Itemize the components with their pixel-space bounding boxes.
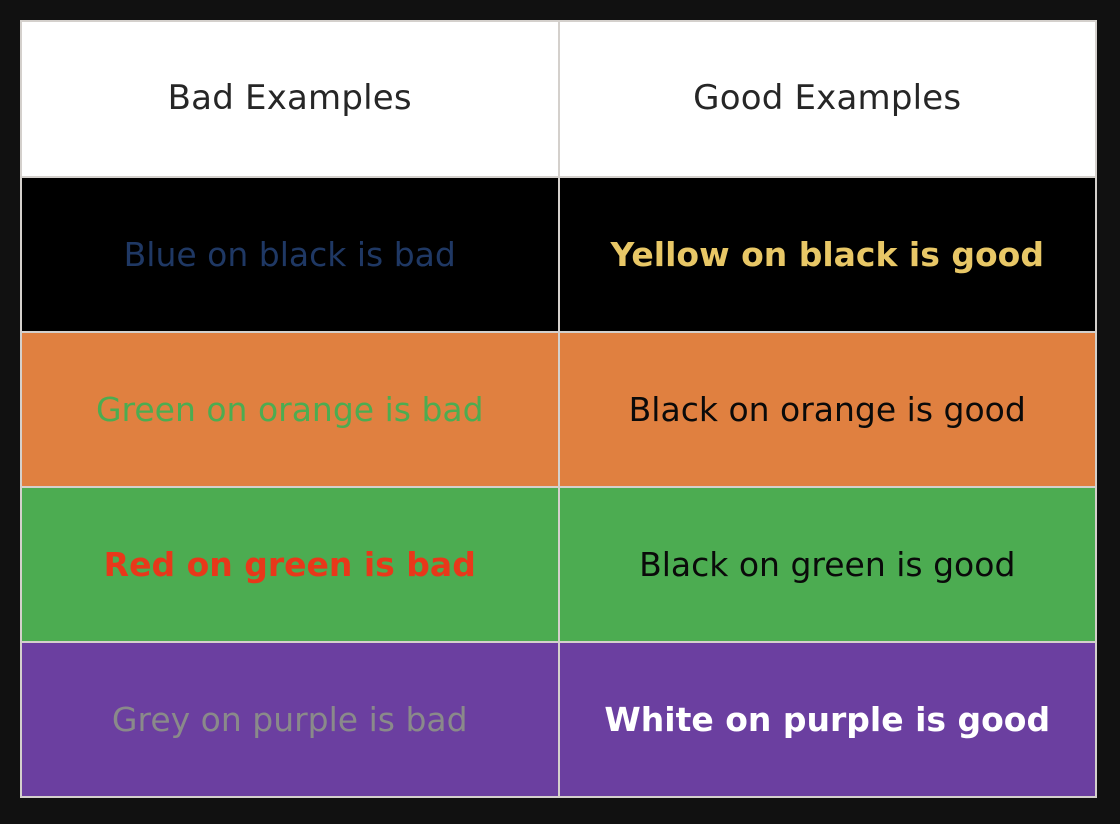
column-header-good-examples: Good Examples xyxy=(559,21,1097,177)
cell-good-white-on-purple: White on purple is good xyxy=(559,642,1097,797)
cell-good-white-on-purple-label: White on purple is good xyxy=(560,701,1096,739)
table-row-black: Blue on black is bad Yellow on black is … xyxy=(21,177,1096,332)
cell-good-yellow-on-black: Yellow on black is good xyxy=(559,177,1097,332)
cell-good-black-on-green-label: Black on green is good xyxy=(560,546,1096,584)
table-row-purple: Grey on purple is bad White on purple is… xyxy=(21,642,1096,797)
color-contrast-table: Bad Examples Good Examples Blue on black… xyxy=(20,20,1097,798)
cell-bad-grey-on-purple: Grey on purple is bad xyxy=(21,642,559,797)
cell-bad-green-on-orange: Green on orange is bad xyxy=(21,332,559,487)
cell-bad-red-on-green: Red on green is bad xyxy=(21,487,559,642)
column-header-bad-examples: Bad Examples xyxy=(21,21,559,177)
column-header-good-examples-label: Good Examples xyxy=(560,79,1096,118)
slide-canvas: Bad Examples Good Examples Blue on black… xyxy=(0,0,1120,824)
table-row-green: Red on green is bad Black on green is go… xyxy=(21,487,1096,642)
cell-good-black-on-orange-label: Black on orange is good xyxy=(560,391,1096,429)
cell-bad-blue-on-black-label: Blue on black is bad xyxy=(22,236,558,274)
table-header: Bad Examples Good Examples xyxy=(21,21,1096,177)
table-row-orange: Green on orange is bad Black on orange i… xyxy=(21,332,1096,487)
cell-bad-grey-on-purple-label: Grey on purple is bad xyxy=(22,701,558,739)
cell-good-yellow-on-black-label: Yellow on black is good xyxy=(560,236,1096,274)
cell-good-black-on-orange: Black on orange is good xyxy=(559,332,1097,487)
column-header-bad-examples-label: Bad Examples xyxy=(22,79,558,118)
header-row: Bad Examples Good Examples xyxy=(21,21,1096,177)
cell-bad-blue-on-black: Blue on black is bad xyxy=(21,177,559,332)
cell-bad-green-on-orange-label: Green on orange is bad xyxy=(22,391,558,429)
cell-good-black-on-green: Black on green is good xyxy=(559,487,1097,642)
cell-bad-red-on-green-label: Red on green is bad xyxy=(22,546,558,584)
table-body: Blue on black is bad Yellow on black is … xyxy=(21,177,1096,797)
